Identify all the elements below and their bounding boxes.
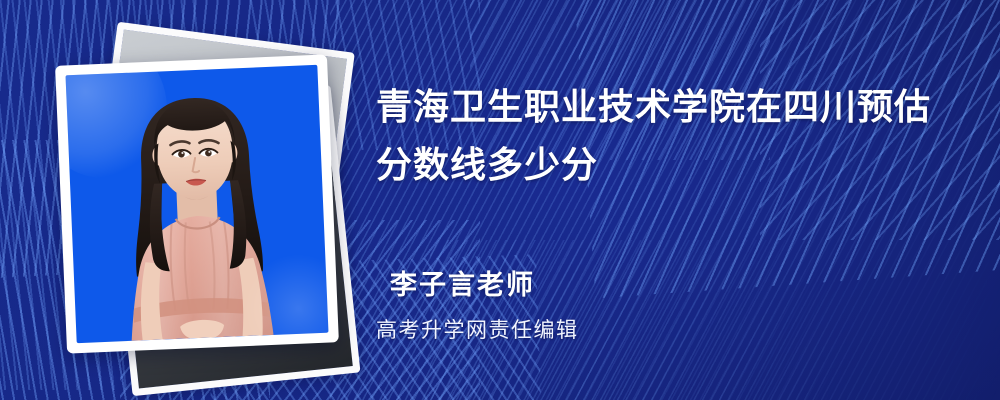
author-photo-card bbox=[55, 54, 339, 353]
portrait-illustration-icon bbox=[65, 65, 328, 343]
banner-text-column: 青海卫生职业技术学院在四川预估分数线多少分 李子言老师 高考升学网责任编辑 bbox=[376, 0, 976, 400]
author-role: 高考升学网责任编辑 bbox=[376, 320, 579, 341]
author-name: 李子言老师 bbox=[390, 272, 535, 299]
author-photo bbox=[65, 65, 328, 343]
article-cover-banner: 青海卫生职业技术学院在四川预估分数线多少分 李子言老师 高考升学网责任编辑 bbox=[0, 0, 1000, 400]
stacked-photo-cards bbox=[55, 38, 355, 358]
page-title: 青海卫生职业技术学院在四川预估分数线多少分 bbox=[376, 78, 956, 194]
